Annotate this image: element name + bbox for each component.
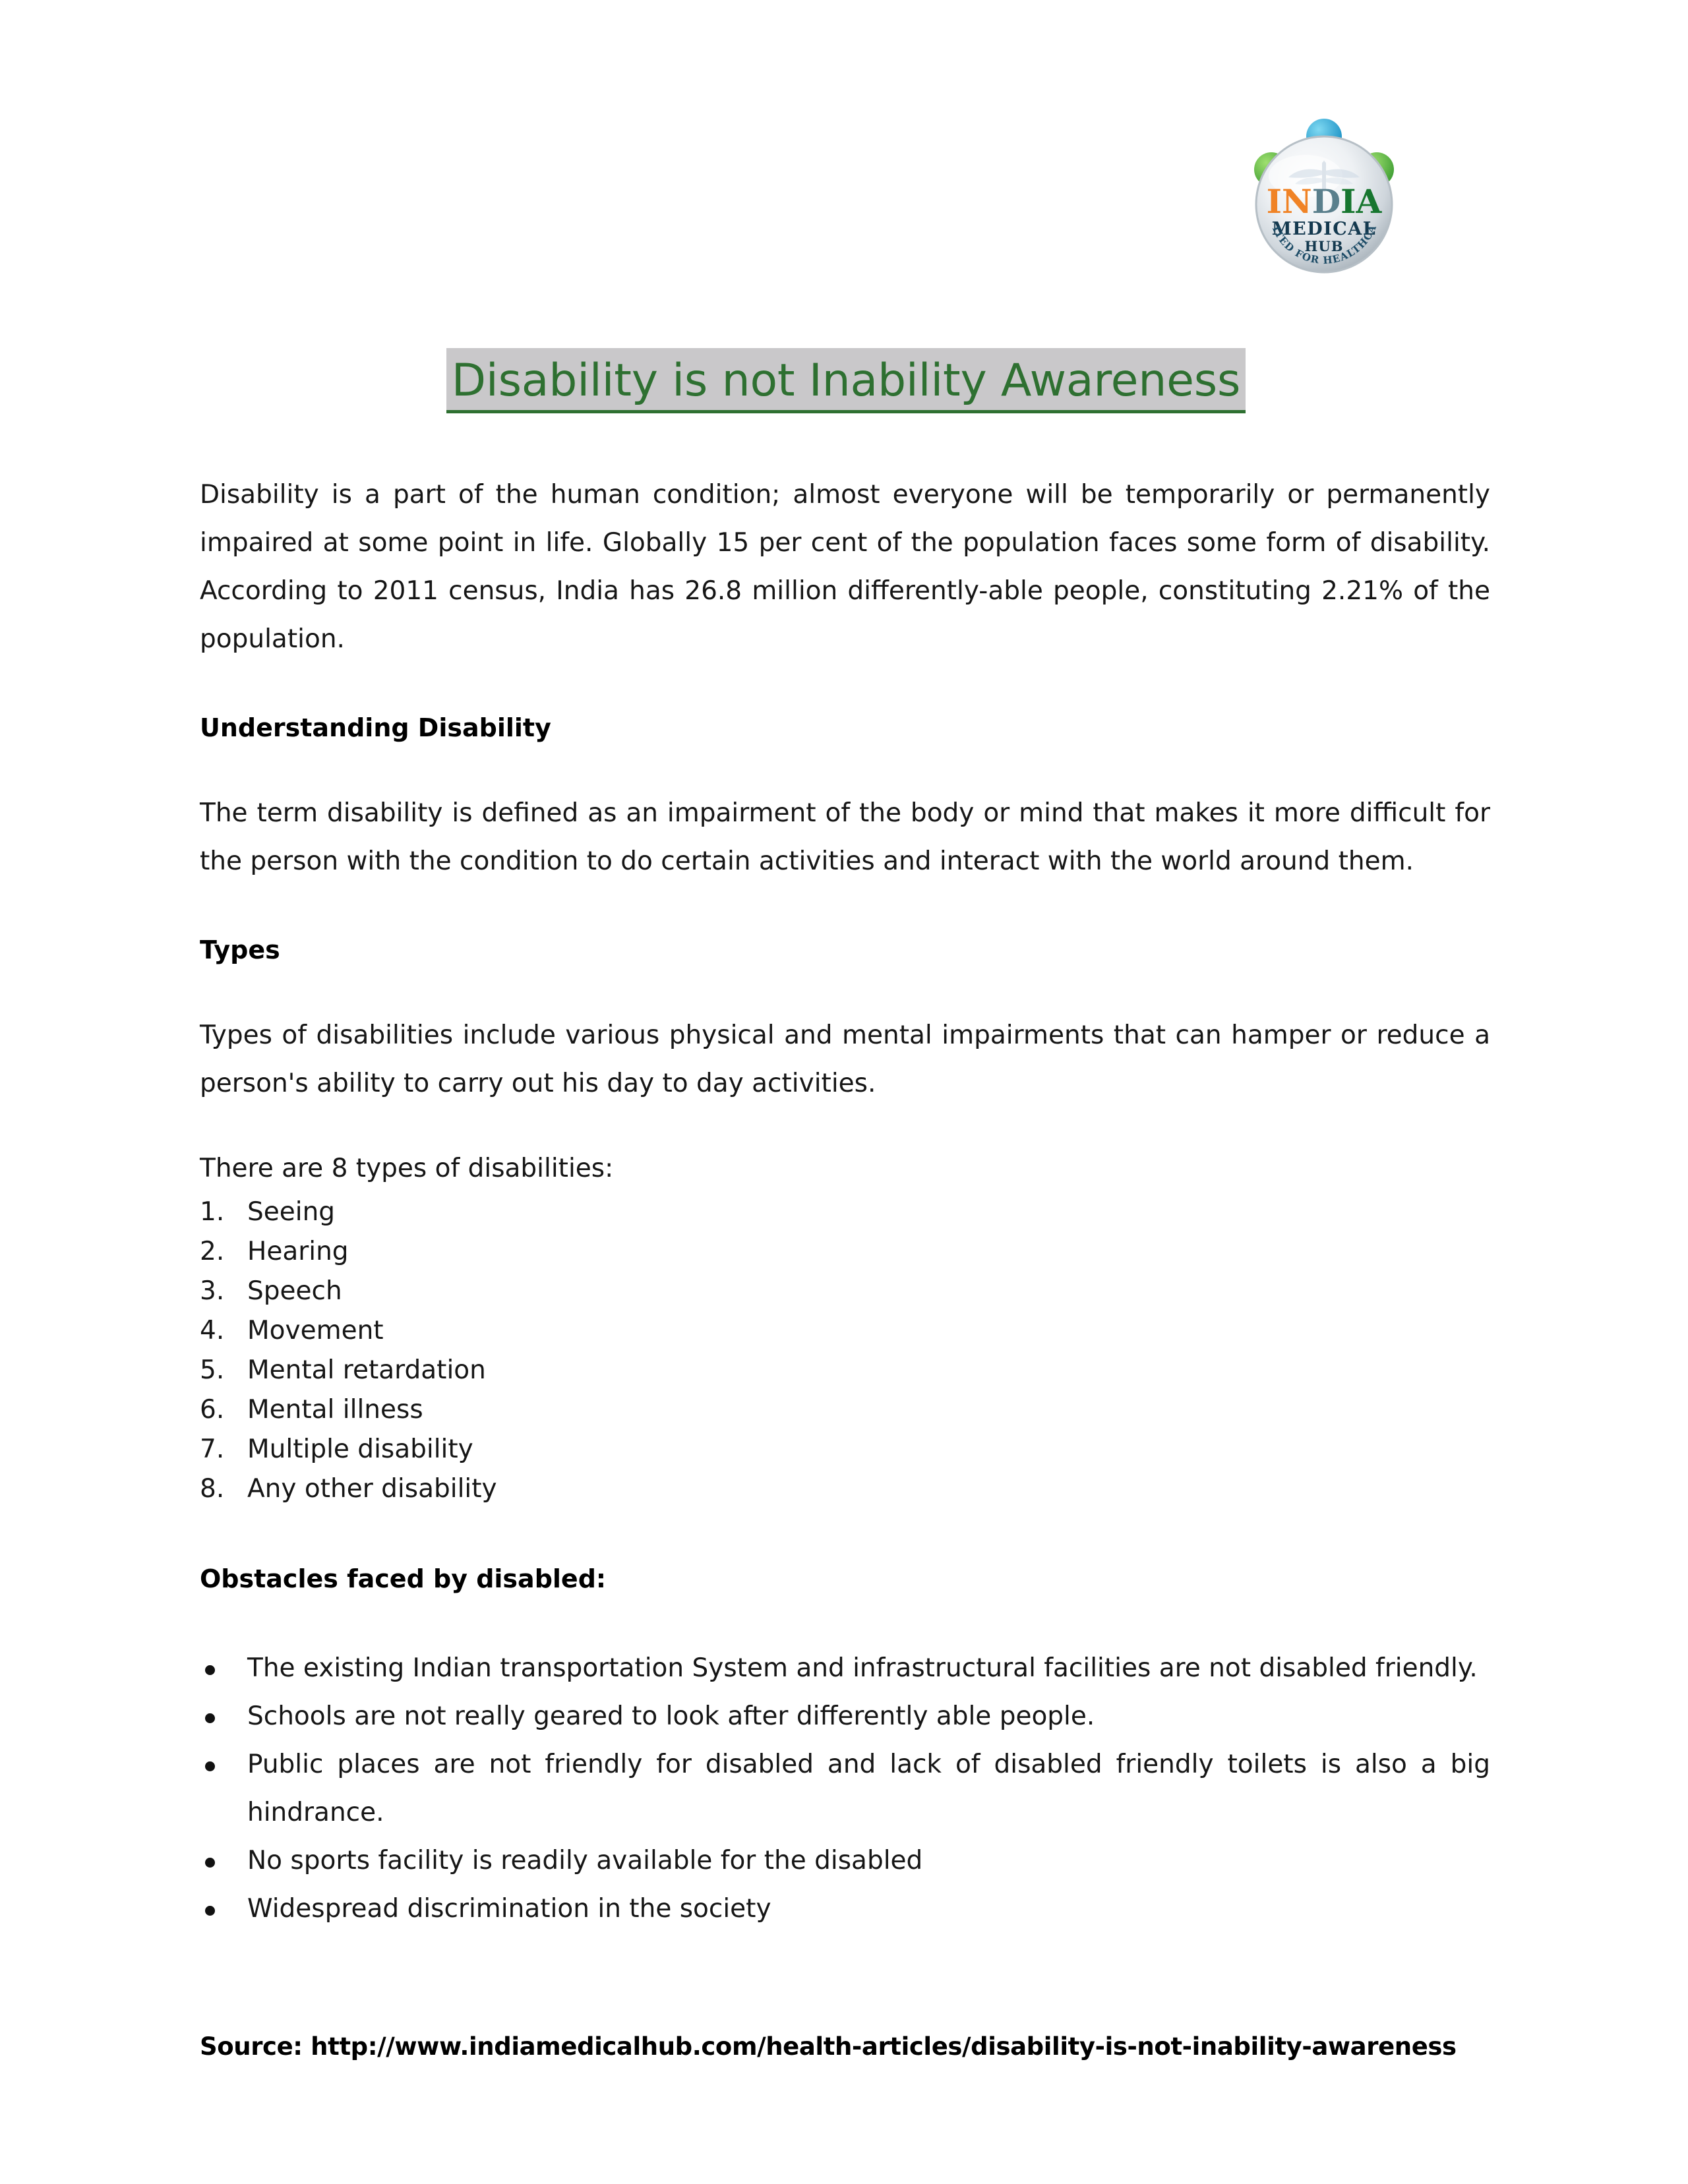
page-title-row: Disability is not Inability Awareness <box>200 348 1492 413</box>
list-item-label: Any other disability <box>247 1474 497 1504</box>
india-medical-hub-logo: INDIA MEDICAL HUB UNITED FOR HEALTHCARE <box>1225 89 1423 280</box>
list-item: 6. Mental illness <box>200 1390 1490 1430</box>
types-list-intro: There are 8 types of disabilities: <box>200 1144 1490 1193</box>
intro-paragraph: Disability is a part of the human condit… <box>200 471 1490 663</box>
list-item-label: Mental retardation <box>247 1355 486 1385</box>
logo-hub-text: HUB <box>1305 238 1344 254</box>
bullet-icon <box>205 1713 215 1723</box>
list-marker: 2. <box>200 1232 239 1272</box>
list-item-text: Schools are not really geared to look af… <box>247 1701 1095 1731</box>
list-item-text: No sports facility is readily available … <box>247 1846 922 1875</box>
list-marker: 6. <box>200 1390 239 1430</box>
heading-obstacles-faced-by-disabled: Obstacles faced by disabled: <box>200 1555 1490 1603</box>
list-item: 4. Movement <box>200 1311 1490 1351</box>
spacer <box>200 1603 1490 1644</box>
list-marker: 1. <box>200 1193 239 1232</box>
list-item: 7. Multiple disability <box>200 1430 1490 1469</box>
list-marker: 7. <box>200 1430 239 1469</box>
spacer <box>200 885 1490 926</box>
list-item: No sports facility is readily available … <box>200 1837 1490 1885</box>
logo-graphic: INDIA MEDICAL HUB UNITED FOR HEALTHCARE <box>1225 89 1423 280</box>
list-item: 2. Hearing <box>200 1232 1490 1272</box>
types-numbered-list: 1. Seeing 2. Hearing 3. Speech 4. Moveme… <box>200 1193 1490 1509</box>
document-page: INDIA MEDICAL HUB UNITED FOR HEALTHCARE … <box>0 0 1688 2184</box>
heading-types: Types <box>200 926 1490 974</box>
list-marker: 5. <box>200 1351 239 1390</box>
list-marker: 3. <box>200 1272 239 1311</box>
heading-understanding-disability: Understanding Disability <box>200 704 1490 752</box>
list-marker: 4. <box>200 1311 239 1351</box>
list-item: Public places are not friendly for disab… <box>200 1740 1490 1837</box>
logo-india-text: INDIA <box>1267 182 1383 221</box>
list-item: 8. Any other disability <box>200 1469 1490 1509</box>
bullet-icon <box>205 1858 215 1868</box>
page-title: Disability is not Inability Awareness <box>446 348 1246 413</box>
bullet-icon <box>205 1761 215 1771</box>
list-item: 3. Speech <box>200 1272 1490 1311</box>
types-paragraph: Types of disabilities include various ph… <box>200 1011 1490 1107</box>
document-body: Disability is a part of the human condit… <box>200 471 1490 1933</box>
spacer <box>200 1107 1490 1144</box>
list-item-label: Mental illness <box>247 1395 423 1425</box>
list-item-text: Widespread discrimination in the society <box>247 1894 771 1924</box>
list-marker: 8. <box>200 1469 239 1509</box>
list-item: 1. Seeing <box>200 1193 1490 1232</box>
spacer <box>200 974 1490 1011</box>
list-item-label: Multiple disability <box>247 1434 473 1464</box>
list-item-label: Seeing <box>247 1197 335 1227</box>
list-item-label: Speech <box>247 1276 342 1306</box>
list-item-label: Hearing <box>247 1237 349 1266</box>
spacer <box>200 1509 1490 1555</box>
bullet-icon <box>205 1906 215 1916</box>
list-item-label: Movement <box>247 1316 384 1345</box>
list-item-text: Public places are not friendly for disab… <box>247 1750 1490 1827</box>
understanding-paragraph: The term disability is defined as an imp… <box>200 789 1490 885</box>
spacer <box>200 663 1490 704</box>
obstacles-bullet-list: The existing Indian transportation Syste… <box>200 1644 1490 1933</box>
spacer <box>200 752 1490 789</box>
list-item-text: The existing Indian transportation Syste… <box>247 1653 1478 1683</box>
list-item: Schools are not really geared to look af… <box>200 1692 1490 1740</box>
logo-medical-text: MEDICAL <box>1272 219 1376 239</box>
list-item: Widespread discrimination in the society <box>200 1885 1490 1933</box>
bullet-icon <box>205 1665 215 1675</box>
source-link[interactable]: Source: http://www.indiamedicalhub.com/h… <box>200 2032 1492 2061</box>
list-item: 5. Mental retardation <box>200 1351 1490 1390</box>
list-item: The existing Indian transportation Syste… <box>200 1644 1490 1692</box>
